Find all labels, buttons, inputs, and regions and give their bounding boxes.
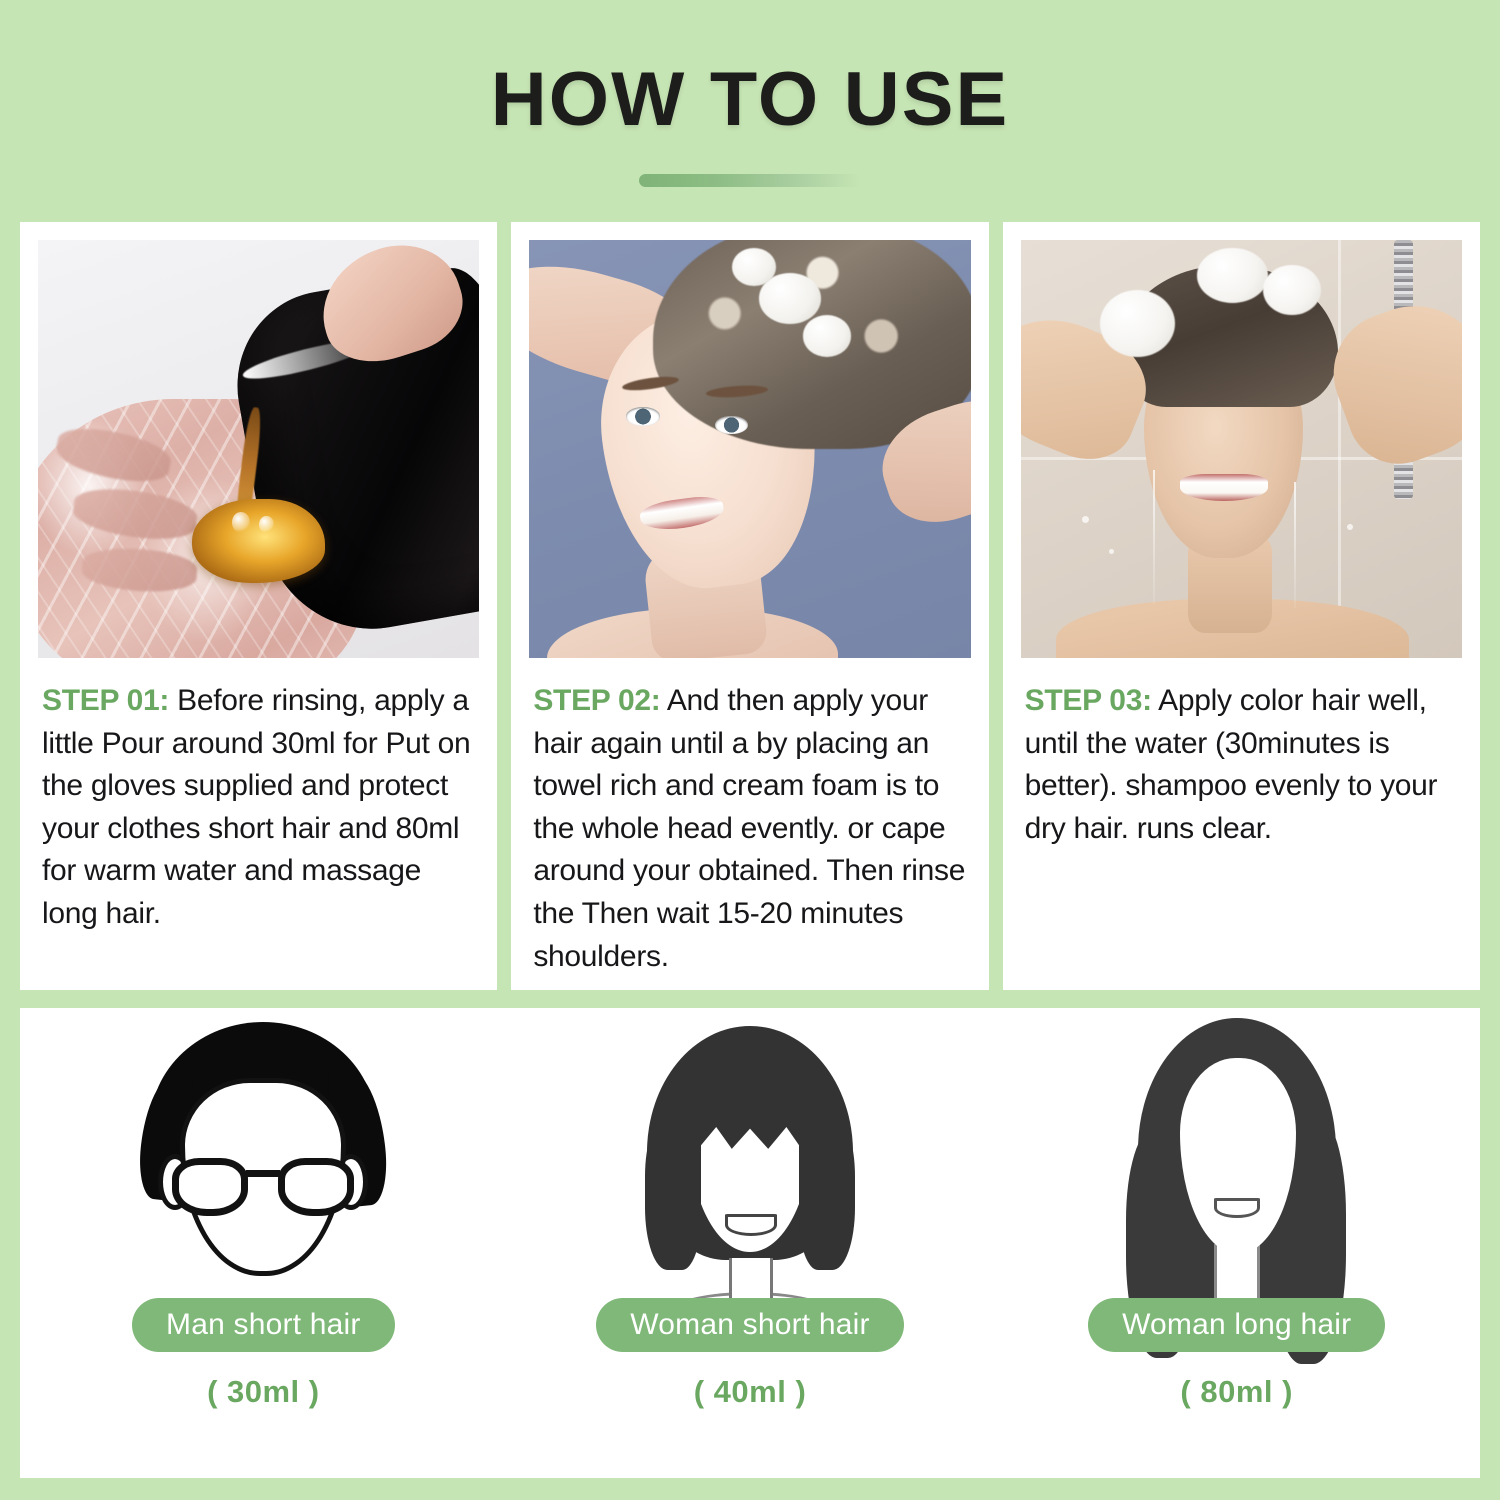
step-3-text: STEP 03: Apply color hair well, until th… <box>1021 680 1462 850</box>
step-2-photo <box>529 240 970 658</box>
steps-row: STEP 01: Before rinsing, apply a little … <box>20 222 1480 990</box>
foam-blob <box>1100 290 1175 357</box>
step-card-3: STEP 03: Apply color hair well, until th… <box>1003 222 1480 990</box>
foam-blob <box>1263 265 1320 315</box>
how-to-use-infographic: HOW TO USE STEP 01: Before rinsing, appl… <box>0 0 1500 1500</box>
water-drop <box>1347 524 1353 530</box>
tile-grout-line <box>1338 240 1341 658</box>
smile <box>725 1214 777 1236</box>
water-drop <box>1109 549 1114 554</box>
hair-types-row: Man short hair ( 30ml ) Woman short hair… <box>20 1008 1480 1478</box>
glasses-bridge <box>246 1170 280 1177</box>
hair-side-right <box>799 1114 855 1270</box>
foam-blob <box>803 315 852 357</box>
hair-type-woman-long: Woman long hair ( 80ml ) <box>993 1008 1480 1478</box>
glasses-icon <box>172 1158 354 1216</box>
product-puddle <box>192 499 324 583</box>
bubble <box>232 512 250 533</box>
woman-short-hair-icon <box>615 1018 885 1298</box>
badge-woman-long-hair[interactable]: Woman long hair <box>1088 1298 1385 1352</box>
bubble <box>259 516 274 534</box>
lens-left <box>172 1158 248 1216</box>
hair-type-card: Man short hair ( 30ml ) Woman short hair… <box>20 1008 1480 1478</box>
amount-woman-long-hair: ( 80ml ) <box>1180 1374 1293 1410</box>
man-short-hair-icon <box>128 1018 398 1298</box>
step-3-label: STEP 03: <box>1025 684 1152 717</box>
step-2-text: STEP 02: And then apply your hair again … <box>529 680 970 978</box>
hair-type-man-short: Man short hair ( 30ml ) <box>20 1008 507 1478</box>
step-card-1: STEP 01: Before rinsing, apply a little … <box>20 222 497 990</box>
step-1-photo <box>38 240 479 658</box>
eye <box>715 416 748 434</box>
step-3-photo <box>1021 240 1462 658</box>
hair-type-woman-short: Woman short hair ( 40ml ) <box>507 1008 994 1478</box>
step-2-label: STEP 02: <box>533 684 660 717</box>
page-title: HOW TO USE <box>0 62 1500 138</box>
step-2-body: And then apply your hair again until a b… <box>533 684 965 973</box>
step-1-label: STEP 01: <box>42 684 169 717</box>
badge-man-short-hair[interactable]: Man short hair <box>132 1298 395 1352</box>
step-1-text: STEP 01: Before rinsing, apply a little … <box>38 680 479 936</box>
smile <box>1214 1198 1260 1218</box>
amount-woman-short-hair: ( 40ml ) <box>694 1374 807 1410</box>
smile <box>1180 474 1268 501</box>
foam-blob <box>1197 248 1268 302</box>
lens-right <box>278 1158 354 1216</box>
eye <box>626 407 659 425</box>
step-card-2: STEP 02: And then apply your hair again … <box>511 222 988 990</box>
water-drop <box>1082 516 1089 523</box>
woman-long-hair-icon <box>1102 1018 1372 1298</box>
hair-side-left <box>645 1114 701 1270</box>
header: HOW TO USE <box>0 0 1500 187</box>
title-underline-bar <box>639 174 861 187</box>
step-1-body: Before rinsing, apply a little Pour arou… <box>42 684 470 930</box>
amount-man-short-hair: ( 30ml ) <box>207 1374 320 1410</box>
badge-woman-short-hair[interactable]: Woman short hair <box>596 1298 903 1352</box>
water-stream <box>1153 470 1155 604</box>
water-stream <box>1294 482 1296 607</box>
